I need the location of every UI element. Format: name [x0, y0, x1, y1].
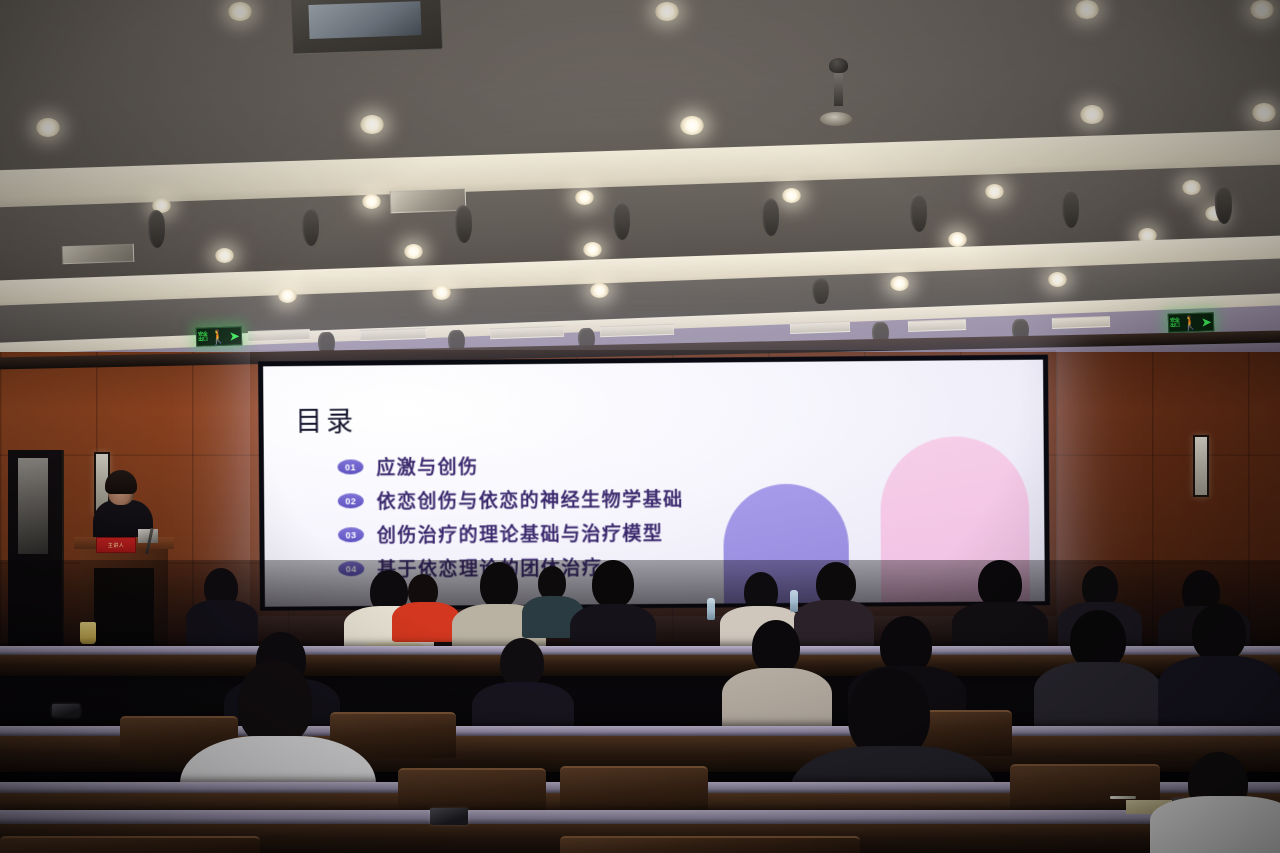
ceiling-troffer: [908, 319, 966, 332]
downlight: [278, 288, 297, 303]
ceiling-vent: [62, 244, 135, 265]
downlight: [1075, 0, 1099, 19]
ceiling-speaker-cone: [1061, 190, 1079, 229]
wall-panel-right: [1193, 435, 1209, 497]
toc-label-01: 应激与创伤: [376, 452, 478, 480]
downlight: [360, 115, 384, 134]
presenter-hair: [105, 470, 137, 494]
arrow-right-icon: ➤: [229, 329, 240, 342]
toc-item-01: 01 应激与创伤: [337, 451, 683, 481]
ceiling-troffer: [360, 328, 426, 341]
podium-nameplate-text: 主讲人: [97, 538, 135, 554]
exit-sign-left-cn: 安全 出口: [198, 332, 208, 342]
smoke-detector-icon: [820, 112, 852, 126]
downlight: [590, 283, 609, 298]
downlight: [1080, 105, 1104, 124]
projector-mount: [291, 0, 443, 55]
smartphone: [52, 704, 80, 717]
downlight: [680, 116, 704, 135]
podium-nameplate: 主讲人: [96, 537, 136, 553]
slide-title: 目录: [295, 399, 357, 438]
exit-sign-right-cn: 安全 出口: [1170, 318, 1180, 328]
downlight: [1252, 103, 1276, 122]
paper-cup: [80, 622, 96, 644]
pendant-microphone: [834, 68, 843, 106]
toc-label-02: 依恋创伤与依恋的神经生物学基础: [377, 485, 684, 514]
ceiling-speaker-cone: [147, 210, 165, 249]
ceiling-speaker-cone: [301, 208, 319, 247]
water-bottle: [790, 590, 798, 612]
arrow-right-icon: ➤: [1201, 315, 1212, 328]
seat-back: [0, 836, 260, 853]
ceiling-speaker-cone: [909, 194, 927, 233]
downlight: [575, 190, 594, 205]
downlight: [228, 2, 252, 21]
toc-label-03: 创伤治疗的理论基础与治疗模型: [377, 519, 664, 548]
toc-item-02: 02 依恋创伤与依恋的神经生物学基础: [338, 485, 684, 515]
downlight: [404, 244, 423, 259]
toc-badge-01: 01: [337, 459, 363, 474]
downlight: [432, 285, 451, 300]
ceiling-speaker-cone: [761, 198, 779, 237]
downlight: [1182, 180, 1201, 195]
downlight: [215, 248, 234, 263]
downlight: [782, 188, 801, 203]
desk-surface-front: [0, 810, 1280, 824]
downlight: [36, 118, 60, 137]
exit-sign-left: 安全 出口 🚶 ➤: [196, 326, 243, 347]
downlight: [1250, 0, 1274, 19]
downlight: [890, 276, 909, 291]
running-person-icon: 🚶: [1181, 315, 1199, 330]
downlight: [655, 2, 679, 21]
ceiling-troffer: [790, 321, 850, 334]
pen: [1110, 796, 1136, 799]
lecture-hall-photo: 安全 出口 🚶 ➤ 安全 出口 🚶 ➤ 目录 01 应激与创伤: [0, 0, 1280, 853]
ceiling-speaker-cone: [612, 202, 630, 241]
running-person-icon: 🚶: [209, 329, 227, 344]
ceiling-speaker-cone: [812, 278, 830, 305]
downlight: [583, 242, 602, 257]
ceiling-troffer: [1052, 316, 1110, 329]
downlight: [362, 194, 381, 209]
seat-back: [560, 836, 860, 853]
ceiling-vent: [390, 189, 467, 214]
smartphone: [430, 808, 468, 825]
downlight: [1048, 272, 1067, 287]
water-bottle: [707, 598, 715, 620]
audience-area: [0, 560, 1280, 853]
ceiling-speaker-cone: [454, 205, 472, 244]
toc-badge-03: 03: [338, 527, 364, 542]
toc-badge-02: 02: [338, 493, 364, 508]
ceiling-troffer: [248, 329, 310, 342]
downlight: [948, 232, 967, 247]
toc-item-03: 03 创伤治疗的理论基础与治疗模型: [338, 519, 684, 549]
downlight: [985, 184, 1004, 199]
ceiling-speaker-cone: [1214, 186, 1232, 225]
exit-sign-right: 安全 出口 🚶 ➤: [1168, 312, 1215, 333]
